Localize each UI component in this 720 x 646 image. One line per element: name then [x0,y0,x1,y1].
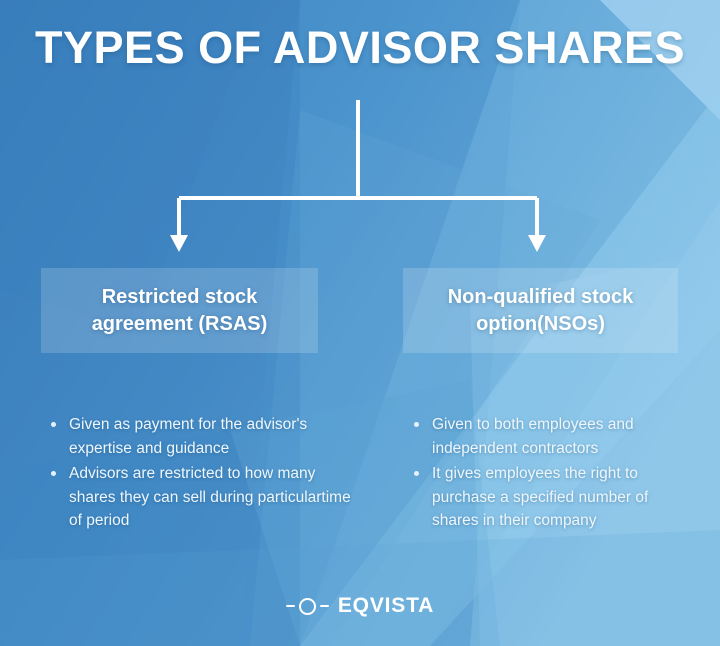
branch-heading-box-rsas: Restricted stock agreement (RSAS) [41,268,318,353]
list-item: It gives employees the right to purchase… [410,462,685,533]
list-item: Given to both employees and independent … [410,413,685,460]
logo-dash-left-icon [286,605,295,607]
logo-circle-icon [299,598,316,615]
arrowhead-left-icon [170,235,188,252]
bullet-list-nsos: Given to both employees and independent … [410,413,685,535]
bullet-list-rsas: Given as payment for the advisor's exper… [47,413,352,535]
branch-heading-box-nsos: Non-qualified stock option(NSOs) [403,268,678,353]
infographic-canvas: TYPES OF ADVISOR SHARES Restricted stock… [0,0,720,646]
arrowhead-right-icon [528,235,546,252]
page-title: TYPES OF ADVISOR SHARES [0,24,720,71]
eqvista-mark-icon [286,598,329,615]
list-item: Given as payment for the advisor's exper… [47,413,352,460]
brand-name: EQVISTA [338,594,434,618]
logo-dash-right-icon [320,605,329,607]
brand-logo: EQVISTA [0,594,720,618]
list-item: Advisors are restricted to how many shar… [47,462,352,533]
